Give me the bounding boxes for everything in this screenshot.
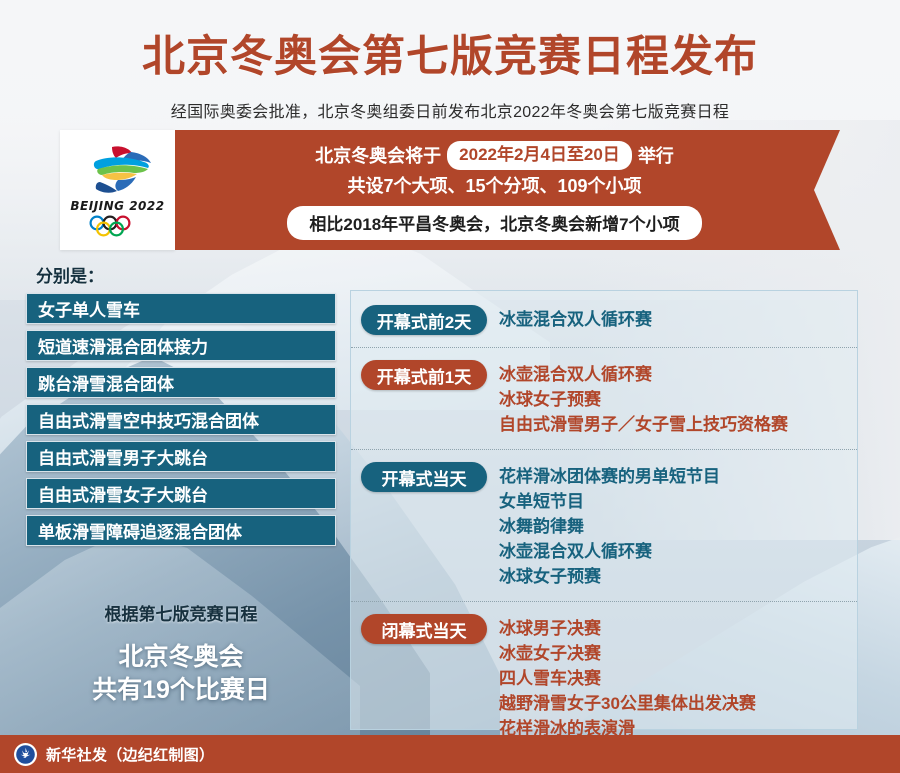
footer-bar: 新华社发（边纪红制图） xyxy=(0,735,900,773)
schedule-day-tag: 闭幕式当天 xyxy=(361,614,487,644)
page-title: 北京冬奥会第七版竞赛日程发布 xyxy=(0,22,900,84)
schedule-event: 冰舞韵律舞 xyxy=(499,514,720,539)
banner-line-events: 共设7个大项、15个分项、109个小项 xyxy=(347,173,641,199)
summary-caption: 根据第七版竞赛日程 xyxy=(26,600,336,625)
schedule-day-tag: 开幕式前1天 xyxy=(361,360,487,390)
schedule-event: 花样滑冰团体赛的男单短节目 xyxy=(499,464,720,489)
schedule-event: 冰球女子预赛 xyxy=(499,387,788,412)
banner-date-pill: 2022年2月4日至20日 xyxy=(447,141,632,170)
schedule-event: 冰壶混合双人循环赛 xyxy=(499,362,788,387)
schedule-event-list: 花样滑冰团体赛的男单短节目女单短节目冰舞韵律舞冰壶混合双人循环赛冰球女子预赛 xyxy=(487,462,720,589)
schedule-event-list: 冰壶混合双人循环赛 xyxy=(487,305,652,335)
new-event-bar: 单板滑雪障碍追逐混合团体 xyxy=(26,515,336,546)
schedule-panel: 开幕式前2天冰壶混合双人循环赛开幕式前1天冰壶混合双人循环赛冰球女子预赛自由式滑… xyxy=(350,290,858,730)
schedule-day-tag: 开幕式前2天 xyxy=(361,305,487,335)
schedule-row: 开幕式前2天冰壶混合双人循环赛 xyxy=(351,291,857,347)
beijing-2022-emblem-icon xyxy=(82,144,154,198)
new-event-bar: 自由式滑雪女子大跳台 xyxy=(26,478,336,509)
schedule-day-tag: 开幕式当天 xyxy=(361,462,487,492)
beijing-2022-emblem-box: BEIJING 2022 xyxy=(60,130,175,250)
schedule-row: 开幕式当天花样滑冰团体赛的男单短节目女单短节目冰舞韵律舞冰壶混合双人循环赛冰球女… xyxy=(351,449,857,601)
footer-credit: 新华社发（边纪红制图） xyxy=(46,744,214,765)
schedule-row: 闭幕式当天冰球男子决赛冰壶女子决赛四人雪车决赛越野滑雪女子30公里集体出发决赛花… xyxy=(351,601,857,753)
header: 北京冬奥会第七版竞赛日程发布 经国际奥委会批准，北京冬奥组委日前发布北京2022… xyxy=(0,0,900,122)
page-subtitle: 经国际奥委会批准，北京冬奥组委日前发布北京2022年冬奥会第七版竞赛日程 xyxy=(0,98,900,122)
competition-days-summary: 根据第七版竞赛日程 北京冬奥会 共有19个比赛日 xyxy=(26,600,336,707)
schedule-event-list: 冰球男子决赛冰壶女子决赛四人雪车决赛越野滑雪女子30公里集体出发决赛花样滑冰的表… xyxy=(487,614,756,741)
banner-line1-prefix: 北京冬奥会将于 xyxy=(315,143,441,169)
schedule-event: 冰壶混合双人循环赛 xyxy=(499,539,720,564)
infographic-page: 北京冬奥会第七版竞赛日程发布 经国际奥委会批准，北京冬奥组委日前发布北京2022… xyxy=(0,0,900,773)
summary-headline-line1: 北京冬奥会 xyxy=(26,641,336,674)
schedule-event: 冰壶女子决赛 xyxy=(499,641,756,666)
new-events-list: 分别是： 女子单人雪车短道速滑混合团体接力跳台滑雪混合团体自由式滑雪空中技巧混合… xyxy=(26,262,336,552)
new-event-bar: 自由式滑雪空中技巧混合团体 xyxy=(26,404,336,435)
xinhua-logo-icon xyxy=(14,743,37,766)
schedule-event: 冰球女子预赛 xyxy=(499,564,720,589)
schedule-event: 冰球男子决赛 xyxy=(499,616,756,641)
olympic-rings-icon xyxy=(86,215,150,237)
schedule-event: 四人雪车决赛 xyxy=(499,666,756,691)
banner-ribbon: 北京冬奥会将于 2022年2月4日至20日 举行 共设7个大项、15个分项、10… xyxy=(175,130,840,250)
new-event-bar: 自由式滑雪男子大跳台 xyxy=(26,441,336,472)
summary-banner: BEIJING 2022 北京冬奥会将于 2022年2月4日至20日 举行 共 xyxy=(60,130,840,250)
schedule-event: 女单短节目 xyxy=(499,489,720,514)
new-events-heading: 分别是： xyxy=(36,262,336,287)
banner-new-events-pill: 相比2018年平昌冬奥会，北京冬奥会新增7个小项 xyxy=(287,206,701,240)
schedule-event-list: 冰壶混合双人循环赛冰球女子预赛自由式滑雪男子／女子雪上技巧资格赛 xyxy=(487,360,788,437)
new-event-bar: 跳台滑雪混合团体 xyxy=(26,367,336,398)
schedule-event: 冰壶混合双人循环赛 xyxy=(499,307,652,332)
summary-headline: 北京冬奥会 共有19个比赛日 xyxy=(26,641,336,707)
summary-headline-line2: 共有19个比赛日 xyxy=(26,674,336,707)
banner-line-dates: 北京冬奥会将于 2022年2月4日至20日 举行 xyxy=(315,141,674,170)
schedule-event: 越野滑雪女子30公里集体出发决赛 xyxy=(499,691,756,716)
banner-line1-suffix: 举行 xyxy=(638,143,674,169)
schedule-row: 开幕式前1天冰壶混合双人循环赛冰球女子预赛自由式滑雪男子／女子雪上技巧资格赛 xyxy=(351,347,857,449)
schedule-event: 自由式滑雪男子／女子雪上技巧资格赛 xyxy=(499,412,788,437)
new-event-bar: 短道速滑混合团体接力 xyxy=(26,330,336,361)
emblem-wordmark: BEIJING 2022 xyxy=(70,199,164,213)
new-event-bar: 女子单人雪车 xyxy=(26,293,336,324)
